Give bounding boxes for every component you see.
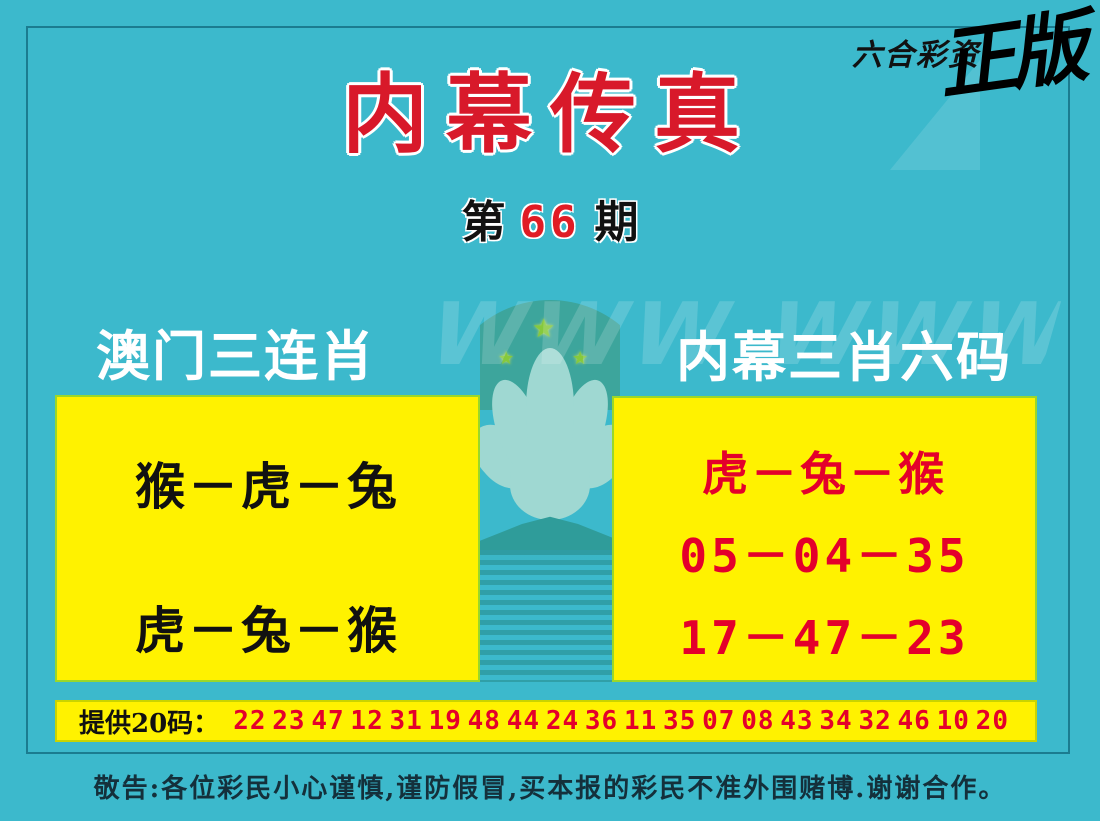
code-number: 11: [624, 706, 657, 736]
code-number: 07: [702, 706, 735, 736]
code-number: 31: [390, 706, 423, 736]
poster-canvas: ★ ★ ★ WWW WWW WWW WWW WWW 六合彩资 正版 内幕传真 第…: [0, 0, 1100, 821]
prediction-line: 虎－兔－猴: [57, 591, 478, 663]
code-number: 48: [468, 706, 501, 736]
lotus-emblem-icon: ★ ★ ★: [480, 300, 620, 682]
prediction-line: 05－04－35: [614, 520, 1035, 586]
emblem-star-icon: ★: [498, 346, 514, 372]
code-number: 46: [898, 706, 931, 736]
code-number: 35: [663, 706, 696, 736]
prediction-line: 猴－虎－兔: [57, 447, 478, 519]
issue-number: 66: [520, 197, 581, 248]
code-number: 12: [350, 706, 383, 736]
code-number: 36: [585, 706, 618, 736]
emblem-petal-base: [510, 450, 590, 520]
codes-list: 2223471231194844243611350708433432461020: [233, 706, 1035, 736]
emblem-water: [480, 550, 620, 682]
issue-suffix: 期: [594, 197, 638, 248]
prediction-line: 虎－兔－猴: [614, 438, 1035, 504]
section-heading-left: 澳门三连肖: [96, 312, 376, 391]
issue-line: 第66期: [0, 186, 1100, 250]
code-number: 22: [233, 706, 266, 736]
code-number: 23: [272, 706, 305, 736]
page-title: 内幕传真: [0, 72, 1100, 158]
issue-prefix: 第: [462, 197, 506, 248]
code-number: 24: [546, 706, 579, 736]
prediction-panel-left: 猴－虎－兔 虎－兔－猴: [55, 395, 480, 682]
code-number: 44: [507, 706, 540, 736]
emblem-petal: [526, 348, 574, 466]
code-number: 47: [311, 706, 344, 736]
emblem-star-icon: ★: [572, 346, 588, 372]
prediction-panel-right: 虎－兔－猴 05－04－35 17－47－23: [612, 396, 1037, 682]
codes-label: 提供20码：: [79, 703, 219, 740]
code-number: 08: [741, 706, 774, 736]
section-heading-right: 内幕三肖六码: [676, 313, 1012, 392]
code-number: 32: [858, 706, 891, 736]
footer-disclaimer: 敬告:各位彩民小心谨慎,谨防假冒,买本报的彩民不准外围赌博.谢谢合作。: [0, 768, 1100, 805]
code-number: 34: [819, 706, 852, 736]
code-number: 10: [937, 706, 970, 736]
emblem-star-icon: ★: [532, 316, 555, 342]
code-number: 43: [780, 706, 813, 736]
prediction-line: 17－47－23: [614, 602, 1035, 668]
codes-bar: 提供20码： 222347123119484424361135070843343…: [55, 700, 1037, 742]
code-number: 20: [976, 706, 1009, 736]
code-number: 19: [429, 706, 462, 736]
